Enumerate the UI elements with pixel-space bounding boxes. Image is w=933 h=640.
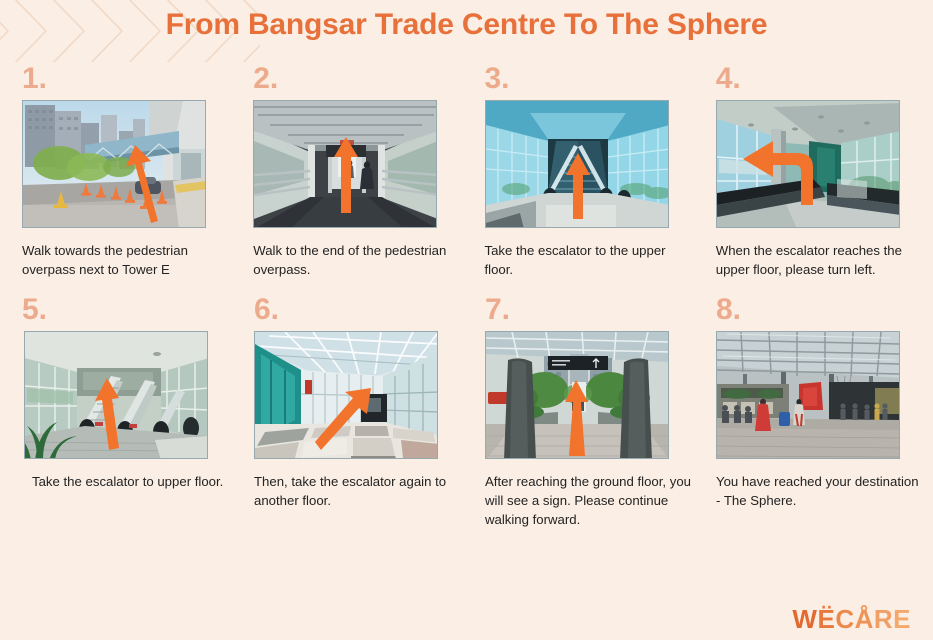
step-caption-3: Take the escalator to the upper floor. [485, 242, 693, 279]
step-photo-2 [253, 100, 437, 228]
step-photo-6 [254, 331, 438, 459]
step-caption-1: Walk towards the pedestrian overpass nex… [22, 242, 230, 279]
step-photo-8 [716, 331, 900, 459]
step-photo-1 [22, 100, 206, 228]
logo-letter-r: R [874, 604, 893, 634]
step-card-2: 2. [253, 58, 470, 279]
step-caption-5: Take the escalator to upper floor. [32, 473, 240, 492]
step-card-8: 8. [716, 289, 933, 529]
step-card-5: 5. [22, 289, 240, 529]
logo-letter-c: C [835, 604, 854, 634]
step-caption-7: After reaching the ground floor, you wil… [485, 473, 693, 529]
step-photo-7 [485, 331, 669, 459]
step-card-3: 3. [485, 58, 702, 279]
step-number-8: 8. [716, 289, 933, 331]
step-caption-2: Walk to the end of the pedestrian overpa… [253, 242, 461, 279]
step-photo-5 [24, 331, 208, 459]
logo-letter-a: Å [855, 604, 874, 634]
step-caption-4: When the escalator reaches the upper flo… [716, 242, 924, 279]
logo-letter-e: Ë [817, 604, 835, 634]
step-caption-8: You have reached your destination - The … [716, 473, 924, 510]
logo-letter-w: W [792, 604, 817, 634]
step-number-2: 2. [253, 58, 470, 100]
step-photo-4 [716, 100, 900, 228]
step-card-1: 1. [22, 58, 239, 279]
steps-row-top: 1. [0, 58, 933, 279]
step-number-7: 7. [485, 289, 702, 331]
step-caption-6: Then, take the escalator again to anothe… [254, 473, 462, 510]
page-title: From Bangsar Trade Centre To The Sphere [0, 8, 933, 42]
step-card-4: 4. [716, 58, 933, 279]
step-card-6: 6. [254, 289, 471, 529]
wecare-logo: WËCÅRE [792, 606, 911, 632]
step-number-1: 1. [22, 58, 239, 100]
logo-letter-e2: E [893, 604, 911, 634]
step-number-5: 5. [22, 289, 240, 331]
step-number-6: 6. [254, 289, 471, 331]
steps-row-bottom: 5. [0, 289, 933, 529]
steps-grid: 1. [0, 58, 933, 530]
step-number-4: 4. [716, 58, 933, 100]
step-number-3: 3. [485, 58, 702, 100]
step-card-7: 7. [485, 289, 702, 529]
step-photo-3 [485, 100, 669, 228]
